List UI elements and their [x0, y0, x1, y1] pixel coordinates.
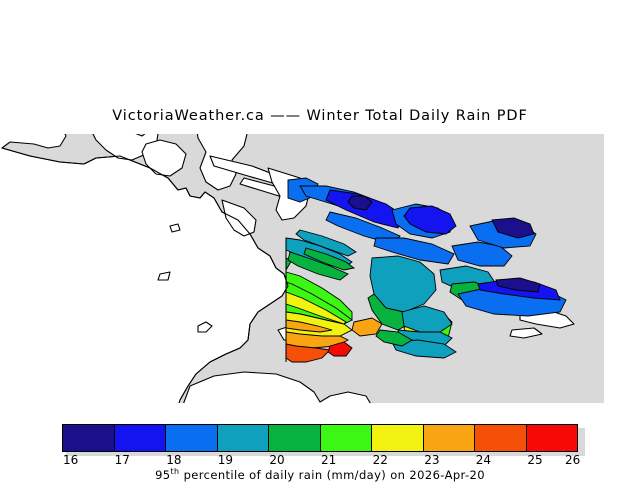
map-panel[interactable] — [0, 134, 604, 403]
caption-superscript: th — [171, 467, 180, 476]
colorbar-band-19-20[interactable] — [218, 425, 270, 451]
colorbar-band-23-24[interactable] — [424, 425, 476, 451]
colorbar-band-17-18[interactable] — [115, 425, 167, 451]
colorbar-tick-21: 21 — [321, 453, 336, 467]
colorbar-band-24-25[interactable] — [475, 425, 527, 451]
colorbar-band-25-26[interactable] — [527, 425, 578, 451]
colorbar-band-20-21[interactable] — [269, 425, 321, 451]
colorbar-tick-25: 25 — [527, 453, 542, 467]
colorbar[interactable] — [62, 424, 578, 452]
colorbar-tick-23: 23 — [424, 453, 439, 467]
colorbar-tick-20: 20 — [269, 453, 284, 467]
colorbar-tick-18: 18 — [166, 453, 181, 467]
colorbar-band-16-17[interactable] — [63, 425, 115, 451]
colorbar-area: 1617181920212223242526 95th percentile o… — [0, 415, 640, 480]
colorbar-tick-19: 19 — [218, 453, 233, 467]
colorbar-tick-26: 26 — [565, 453, 580, 467]
colorbar-band-21-22[interactable] — [321, 425, 373, 451]
colorbar-band-22-23[interactable] — [372, 425, 424, 451]
colorbar-tick-22: 22 — [373, 453, 388, 467]
colorbar-tick-16: 16 — [63, 453, 78, 467]
colorbar-tick-24: 24 — [476, 453, 491, 467]
screenshot-root: VictoriaWeather.ca —— Winter Total Daily… — [0, 0, 640, 480]
page-title: VictoriaWeather.ca —— Winter Total Daily… — [0, 108, 640, 124]
land-islet-1 — [170, 224, 180, 232]
colorbar-tick-17: 17 — [115, 453, 130, 467]
colorbar-band-18-19[interactable] — [166, 425, 218, 451]
rainfall-contour-map[interactable] — [0, 134, 604, 403]
